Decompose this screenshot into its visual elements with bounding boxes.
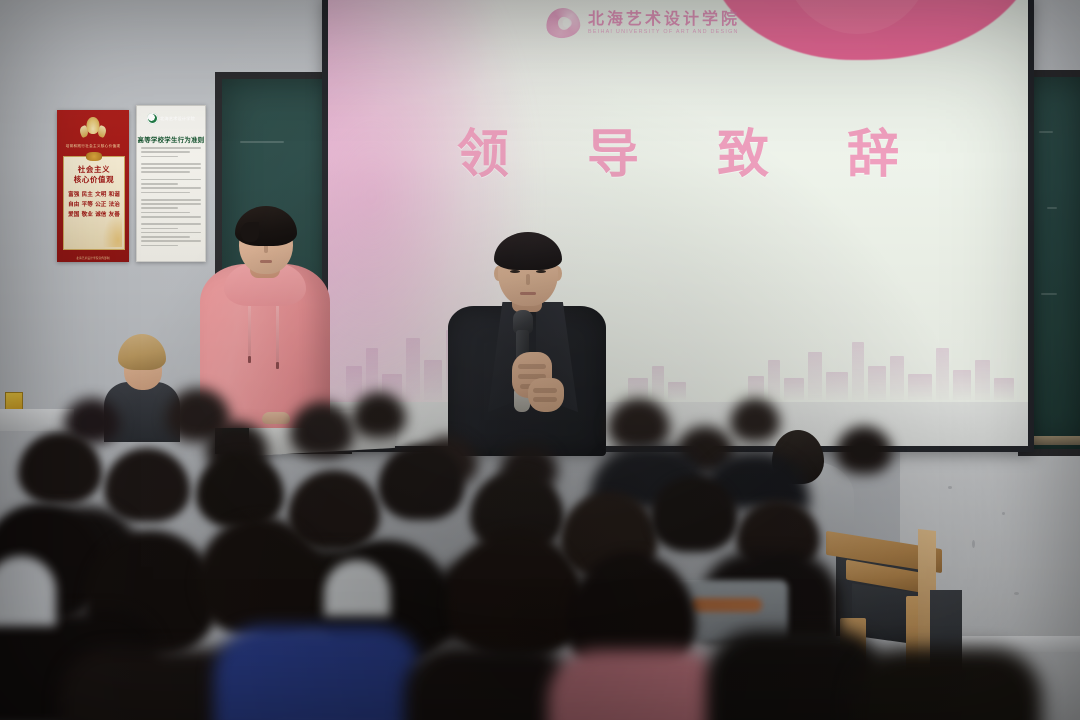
finger (533, 397, 557, 402)
value-word: 爱国 (68, 210, 79, 220)
poster-title-line-2: 核心价值观 (64, 175, 124, 185)
poster-title: 高等学校学生行为准则 (137, 135, 205, 144)
nose (526, 274, 530, 285)
university-logo-icon (147, 113, 158, 124)
wall-mark (1014, 592, 1019, 595)
poster-header-logo-text: 北海艺术设计学院 (160, 116, 195, 121)
value-word: 民主 (82, 190, 93, 200)
value-word: 法治 (109, 200, 120, 210)
speaker-second-hand (528, 378, 564, 412)
logo-chinese-name: 北海艺术设计学院 (588, 11, 740, 27)
hoodie-drawstring (276, 300, 279, 362)
value-word: 富强 (68, 190, 79, 200)
poster-body-text (137, 147, 205, 246)
poster-header-band: 北海艺术设计学院 (137, 106, 205, 130)
finger (533, 388, 557, 393)
wall-mark (1002, 512, 1005, 515)
eye (510, 270, 520, 273)
chalk-smudge (1041, 293, 1057, 295)
chalk-smudge (1047, 207, 1057, 209)
value-word: 公正 (95, 200, 106, 210)
audience-head (836, 426, 892, 474)
audience-head (730, 398, 780, 442)
audience-body-blue-jacket (214, 626, 424, 720)
mouth (520, 292, 536, 295)
logo-english-name: BEIHAI UNIVERSITY OF ART AND DESIGN (588, 30, 740, 35)
poster-student-code-of-conduct: 北海艺术设计学院 高等学校学生行为准则 (136, 105, 206, 262)
poster-socialist-core-values: 培育和践行社会主义核心价值观 社会主义 核心价值观 富强 民主 文明 和谐 自由… (57, 110, 129, 262)
core-values-row: 富强 民主 文明 和谐 (67, 190, 121, 200)
wall-mark (948, 486, 952, 489)
national-emblem-icon (80, 117, 106, 143)
chalk-smudge (1039, 131, 1053, 133)
wall-cabinet (0, 409, 74, 431)
value-word: 文明 (95, 190, 106, 200)
backpack-strap (690, 598, 762, 612)
hoodie-drawstring-tip (248, 356, 251, 363)
audience-head (608, 398, 670, 450)
lecture-hall-photo: 培育和践行社会主义核心价值观 社会主义 核心价值观 富强 民主 文明 和谐 自由… (0, 0, 1080, 720)
eye (536, 270, 546, 273)
poster-emblem-caption: 培育和践行社会主义核心价值观 (57, 144, 129, 149)
host-hand-on-podium (262, 412, 290, 424)
university-logo-lockup: 北海艺术设计学院 BEIHAI UNIVERSITY OF ART AND DE… (546, 8, 740, 38)
chalk-smudge (240, 141, 284, 143)
projection-screen: 北海艺术设计学院 BEIHAI UNIVERSITY OF ART AND DE… (322, 0, 1034, 452)
gold-ornament (102, 213, 122, 247)
value-word: 和谐 (109, 190, 120, 200)
chinese-knot-icon (86, 152, 102, 161)
hoodie-drawstring (248, 300, 251, 356)
wall-mark (972, 540, 975, 548)
poster-footer: 北海艺术设计学院宣传部制 (57, 256, 129, 260)
hoodie-drawstring-tip (276, 362, 279, 369)
value-word: 自由 (68, 200, 79, 210)
core-values-row: 自由 平等 公正 法治 (67, 200, 121, 210)
swirl-logo-icon (546, 8, 580, 38)
value-word: 敬业 (82, 210, 93, 220)
cityscape-silhouette (328, 280, 1028, 400)
slide-headline: 领 导 致 辞 (328, 112, 1028, 187)
audience-head (290, 402, 354, 458)
mouth (260, 260, 272, 263)
poster-title-line-1: 社会主义 (64, 165, 124, 175)
finger (518, 364, 546, 369)
audience-body-pink-jacket (548, 650, 728, 720)
audience-head (352, 392, 406, 438)
value-word: 平等 (82, 200, 93, 210)
poster-card: 社会主义 核心价值观 富强 民主 文明 和谐 自由 平等 公正 法治 爱国 敬业 (63, 156, 125, 250)
audience-body-foreground (852, 648, 1042, 720)
